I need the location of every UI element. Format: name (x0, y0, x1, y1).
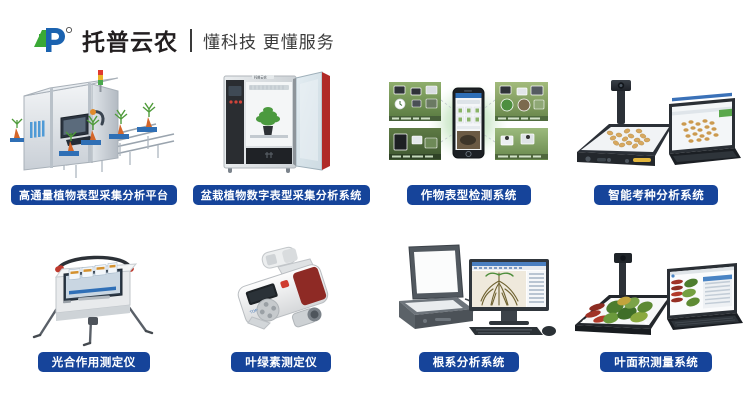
product-label-high-throughput-platform[interactable]: 高通量植物表型采集分析平台 (11, 185, 177, 205)
site-header: 托普云农 懂科技 更懂服务 (30, 18, 335, 62)
brand-name: 托普云农 (82, 23, 178, 57)
product-catalog-page: 托普云农 懂科技 更懂服务 (0, 0, 750, 400)
product-image-intelligent-seed-analysis (569, 66, 744, 184)
product-image-potted-plant-digital-phenotype: 托普云农 (194, 66, 369, 184)
product-grid: 高通量植物表型采集分析平台 (0, 66, 750, 400)
product-image-chlorophyll-meter: TOP (194, 233, 369, 351)
product-card-chlorophyll-meter[interactable]: TOP 叶绿素测定仪 (188, 233, 376, 400)
product-label-photosynthesis-meter[interactable]: 光合作用测定仪 (38, 352, 150, 372)
product-label-intelligent-seed-analysis[interactable]: 智能考种分析系统 (594, 185, 718, 205)
product-image-crop-phenotype-detection (381, 66, 556, 184)
brand-tagline: 懂科技 更懂服务 (203, 28, 335, 53)
product-card-root-analysis-system[interactable]: 根系分析系统 (375, 233, 563, 400)
product-label-crop-phenotype-detection[interactable]: 作物表型检测系统 (407, 185, 531, 205)
svg-text:托普云农: 托普云农 (254, 74, 268, 79)
product-card-potted-plant-digital-phenotype[interactable]: 托普云农 盆栽植物数字表型采集分析系统 (188, 66, 376, 233)
product-image-high-throughput-platform (6, 66, 181, 184)
header-divider (190, 29, 192, 52)
product-card-intelligent-seed-analysis[interactable]: 智能考种分析系统 (563, 66, 750, 233)
product-card-crop-phenotype-detection[interactable]: 作物表型检测系统 (375, 66, 563, 233)
product-card-high-throughput-platform[interactable]: 高通量植物表型采集分析平台 (0, 66, 188, 233)
product-label-potted-plant-digital-phenotype[interactable]: 盆栽植物数字表型采集分析系统 (193, 185, 370, 205)
tp-logo-icon (30, 25, 76, 55)
product-label-root-analysis-system[interactable]: 根系分析系统 (419, 352, 519, 372)
product-card-leaf-area-measurement[interactable]: 叶面积测量系统 (563, 233, 750, 400)
product-image-leaf-area-measurement (569, 233, 744, 351)
product-label-leaf-area-measurement[interactable]: 叶面积测量系统 (600, 352, 712, 372)
product-image-root-analysis-system (381, 233, 556, 351)
product-label-chlorophyll-meter[interactable]: 叶绿素测定仪 (231, 352, 331, 372)
product-card-photosynthesis-meter[interactable]: 光合作用测定仪 (0, 233, 188, 400)
product-image-photosynthesis-meter (6, 233, 181, 351)
